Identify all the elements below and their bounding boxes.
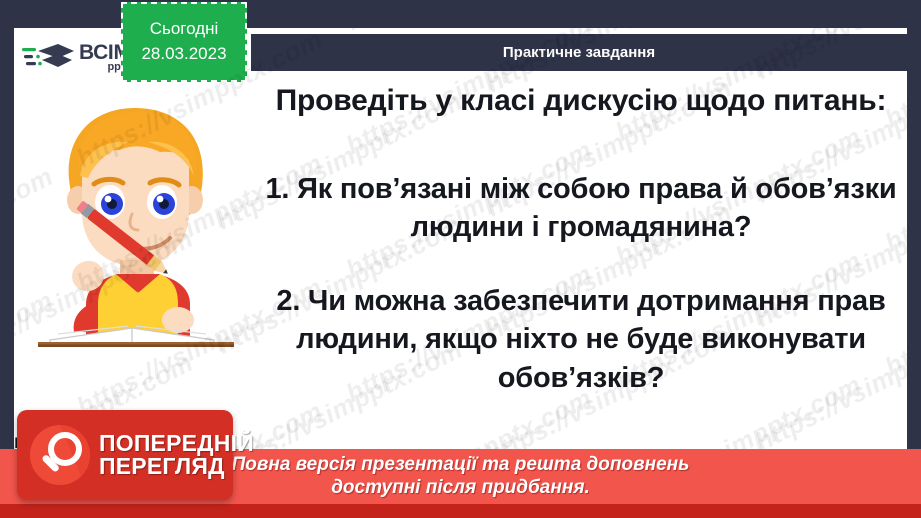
- preview-badge-line-1: ПОПЕРЕДНІЙ: [99, 432, 254, 455]
- banner-footer-strip: [0, 504, 921, 518]
- slide-frame: https://vsimpptx.com https://vsimpptx.co…: [0, 0, 921, 518]
- boy-reading-illustration: [28, 92, 243, 347]
- banner-line-1: Повна версія презентації та решта доповн…: [232, 454, 690, 476]
- date-badge-label: Сьогодні: [150, 17, 219, 42]
- date-badge-value: 28.03.2023: [141, 42, 226, 67]
- question-2: 2. Чи можна забезпечити дотримання прав …: [255, 282, 907, 397]
- section-header-bar: Практичне завдання: [251, 34, 907, 71]
- slide-body: Проведіть у класі дискусію щодо питань: …: [255, 82, 907, 397]
- lead-paragraph: Проведіть у класі дискусію щодо питань:: [255, 82, 907, 120]
- preview-badge-line-2: ПЕРЕГЛЯД: [99, 455, 254, 478]
- preview-badge[interactable]: ПОПЕРЕДНІЙ ПЕРЕГЛЯД: [17, 410, 233, 500]
- graduation-cap-icon: [22, 40, 74, 74]
- banner-line-2: доступні після придбання.: [331, 477, 590, 499]
- date-badge: Сьогодні 28.03.2023: [121, 2, 247, 82]
- magnifier-icon: [29, 424, 91, 486]
- page-title: Практичне завдання: [503, 44, 655, 61]
- question-1: 1. Як пов’язані між собою права й обов’я…: [255, 170, 907, 247]
- preview-badge-text: ПОПЕРЕДНІЙ ПЕРЕГЛЯД: [99, 432, 254, 478]
